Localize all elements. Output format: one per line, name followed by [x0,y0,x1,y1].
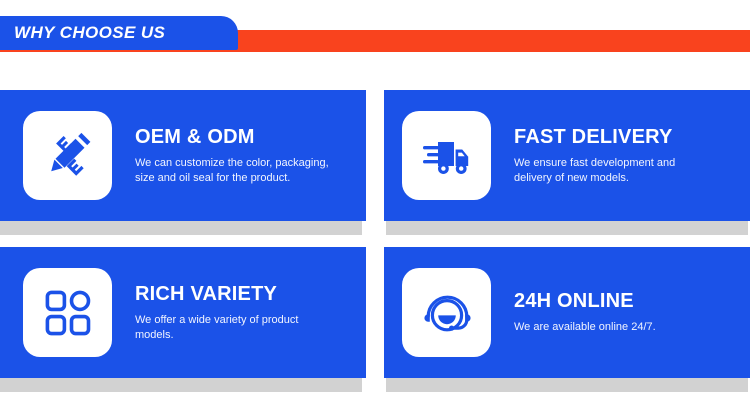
card-shadow [0,221,362,235]
icon-tile [23,111,112,200]
card-text: OEM & ODM We can customize the color, pa… [112,126,345,185]
feature-card-24h-online[interactable]: 24H ONLINE We are available online 24/7. [384,247,745,388]
card-title: FAST DELIVERY [514,126,714,149]
card-text: 24H ONLINE We are available online 24/7. [491,290,666,335]
section-header: WHY CHOOSE US [0,0,750,62]
feature-card-grid: OEM & ODM We can customize the color, pa… [5,90,745,390]
card-description: We offer a wide variety of product model… [135,313,335,342]
headset-support-icon [420,286,474,340]
card-title: 24H ONLINE [514,290,656,313]
header-blue-tab: WHY CHOOSE US [0,16,238,50]
card-body: 24H ONLINE We are available online 24/7. [384,247,750,378]
card-body: RICH VARIETY We offer a wide variety of … [0,247,366,378]
card-shadow [386,221,748,235]
card-description: We can customize the color, packaging, s… [135,156,335,185]
grid-shapes-icon [43,288,93,338]
card-body: FAST DELIVERY We ensure fast development… [384,90,750,221]
card-description: We ensure fast development and delivery … [514,156,714,185]
delivery-truck-icon [420,129,474,183]
feature-card-rich-variety[interactable]: RICH VARIETY We offer a wide variety of … [5,247,366,388]
card-text: RICH VARIETY We offer a wide variety of … [112,283,345,342]
icon-tile [23,268,112,357]
why-choose-us-section: WHY CHOOSE US [0,0,750,418]
card-text: FAST DELIVERY We ensure fast development… [491,126,724,185]
card-title: OEM & ODM [135,126,335,149]
card-title: RICH VARIETY [135,283,335,306]
feature-card-oem-odm[interactable]: OEM & ODM We can customize the color, pa… [5,90,366,231]
page-title: WHY CHOOSE US [0,23,165,43]
pencil-ruler-icon [42,130,94,182]
card-description: We are available online 24/7. [514,320,656,335]
icon-tile [402,268,491,357]
icon-tile [402,111,491,200]
feature-card-fast-delivery[interactable]: FAST DELIVERY We ensure fast development… [384,90,745,231]
card-shadow [386,378,748,392]
card-shadow [0,378,362,392]
card-body: OEM & ODM We can customize the color, pa… [0,90,366,221]
